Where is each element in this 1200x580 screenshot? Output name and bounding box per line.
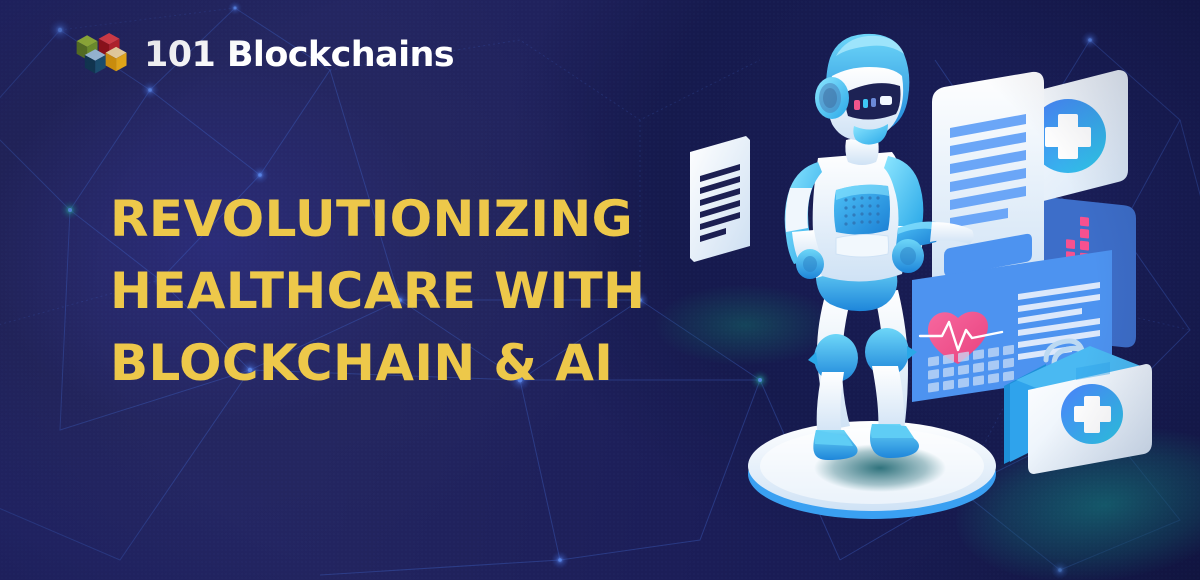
headline-line-3: BLOCKCHAIN & AI	[110, 327, 630, 399]
headline-line-2: HEALTHCARE WITH	[110, 255, 630, 327]
logo-text: 101 Blockchains	[144, 38, 454, 73]
illustration-svg	[640, 0, 1200, 580]
document-card-main	[932, 72, 1044, 293]
healthcare-ai-robot-scene	[640, 0, 1200, 580]
site-logo[interactable]: 101 Blockchains	[72, 24, 454, 86]
page-title: REVOLUTIONIZING HEALTHCARE WITH BLOCKCHA…	[110, 183, 630, 399]
robot-legs	[808, 290, 917, 438]
four-cubes-logo-icon	[72, 26, 130, 84]
robot-chest-panel	[834, 185, 890, 257]
banner-root: 101 Blockchains REVOLUTIONIZING HEALTHCA…	[0, 0, 1200, 580]
document-card-left	[690, 136, 750, 262]
robot-head	[815, 34, 909, 145]
headline-line-1: REVOLUTIONIZING	[110, 183, 630, 255]
